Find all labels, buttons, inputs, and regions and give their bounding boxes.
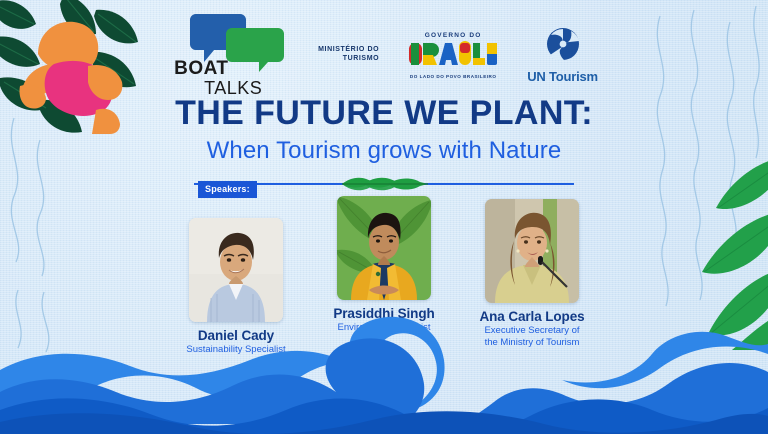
brand-line1: BOAT [174,58,228,80]
governo-do-brasil-logo: GOVERNO DO DO LADO DO POVO BRASILEIRO [409,32,497,79]
page-title: THE FUTURE WE PLANT: [0,96,768,131]
un-tourism-emblem-icon [546,27,580,61]
mtur-line2: TURISMO [318,55,379,64]
ocean-waves-decoration [0,284,768,434]
mtur-line1: MINISTÉRIO DO [318,46,379,55]
un-tourism-name: UN Tourism [527,69,598,84]
logo-row: BOAT TALKS MINISTÉRIO DO TURISMO GOVERNO… [0,14,768,96]
ministerio-do-turismo-logo: MINISTÉRIO DO TURISMO [318,46,379,64]
page-subtitle: When Tourism grows with Nature [0,137,768,165]
leaf-branch-icon [338,173,430,195]
event-banner: BOAT TALKS MINISTÉRIO DO TURISMO GOVERNO… [0,0,768,434]
un-tourism-logo: UN Tourism [527,27,598,84]
brasil-top-label: GOVERNO DO [409,32,497,39]
brasil-tagline: DO LADO DO POVO BRASILEIRO [409,74,497,79]
boat-talks-logo: BOAT TALKS [170,14,288,96]
title-block: THE FUTURE WE PLANT: When Tourism grows … [0,96,768,165]
brasil-wordmark-icon [409,41,497,67]
